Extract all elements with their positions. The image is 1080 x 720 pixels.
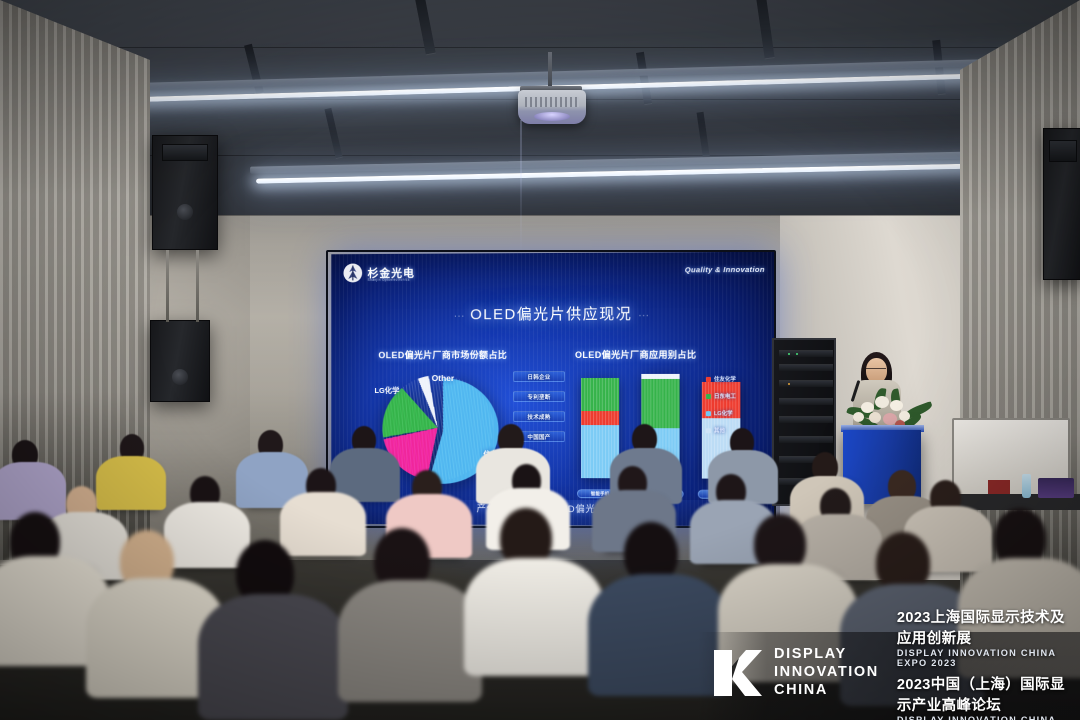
water-bottle	[1022, 474, 1031, 498]
slide-chip: 专利垄断	[513, 391, 565, 402]
projector-lens	[534, 112, 570, 121]
legend-label: 其他	[714, 426, 725, 434]
pie-chart-heading: OLED偏光片厂商市场份额占比	[378, 348, 507, 361]
legend-item: LG化学	[706, 409, 736, 417]
slide-company-logo: 杉金光电 Shanjin Optoelectronics	[343, 263, 415, 283]
shanjin-logo-icon	[343, 263, 363, 283]
slide-tagline: Quality & Innovation	[685, 265, 765, 274]
expo-name-cn: 2023上海国际显示技术及应用创新展	[897, 606, 1070, 648]
laptop	[1038, 478, 1074, 498]
speaker-glasses	[866, 368, 886, 372]
forum-name-en: DISPLAY INNOVATION CHINA FORUM 2023	[897, 715, 1070, 720]
legend-swatch	[706, 428, 711, 433]
legend-item: 日东电工	[706, 392, 736, 400]
legend-label: 日东电工	[714, 392, 736, 400]
branding-line-3: CHINA	[774, 682, 879, 700]
legend-swatch	[706, 394, 711, 399]
title-deco-right: ···	[638, 310, 649, 322]
branding-line-1: DISPLAY	[774, 646, 879, 664]
projector-cable	[520, 120, 522, 260]
branding-event-names: 2023上海国际显示技术及应用创新展 DISPLAY INNOVATION CH…	[897, 606, 1070, 720]
projector-vent	[525, 97, 579, 107]
legend-swatch	[706, 376, 711, 381]
branding-line-2: INNOVATION	[774, 664, 879, 682]
title-deco-left: ···	[454, 310, 465, 322]
pa-speaker-right	[1043, 128, 1080, 280]
bar-chart-heading: OLED偏光片厂商应用别占比	[575, 348, 696, 361]
forum-name-cn: 2023中国（上海）国际显示产业高峰论坛	[897, 673, 1070, 715]
expo-name-en: DISPLAY INNOVATION CHINA EXPO 2023	[897, 648, 1070, 668]
pie-label-lg: LG化学	[374, 385, 399, 396]
pa-speaker-left-lower	[150, 320, 210, 402]
slide-chip: 日韩企业	[513, 371, 565, 382]
slide-title-text: OLED偏光片供应现况	[470, 306, 632, 324]
legend-item: 住友化学	[706, 375, 736, 383]
display-innovation-china-logo-icon	[712, 648, 764, 698]
conference-hall-photo: 杉金光电 Shanjin Optoelectronics Quality & I…	[0, 0, 1080, 720]
legend-label: 住友化学	[714, 375, 736, 383]
slide-logo-en: Shanjin Optoelectronics	[368, 278, 410, 282]
legend-swatch	[706, 411, 711, 416]
slide-title: ··· OLED偏光片供应现况 ···	[331, 302, 775, 324]
ceiling-projector	[518, 90, 586, 124]
bar-segment-nitto	[641, 379, 679, 428]
bar-segment-nitto	[581, 378, 619, 411]
bar-segment-sumitomo	[581, 411, 619, 425]
slide-chip: 技术成熟	[513, 411, 565, 422]
event-branding-bar: DISPLAY INNOVATION CHINA 2023上海国际显示技术及应用…	[698, 632, 1080, 720]
branding-wordmark: DISPLAY INNOVATION CHINA	[774, 646, 879, 699]
pa-speaker-left-upper	[152, 135, 218, 250]
legend-label: LG化学	[714, 409, 733, 417]
pie-label-other: Other	[432, 373, 454, 383]
